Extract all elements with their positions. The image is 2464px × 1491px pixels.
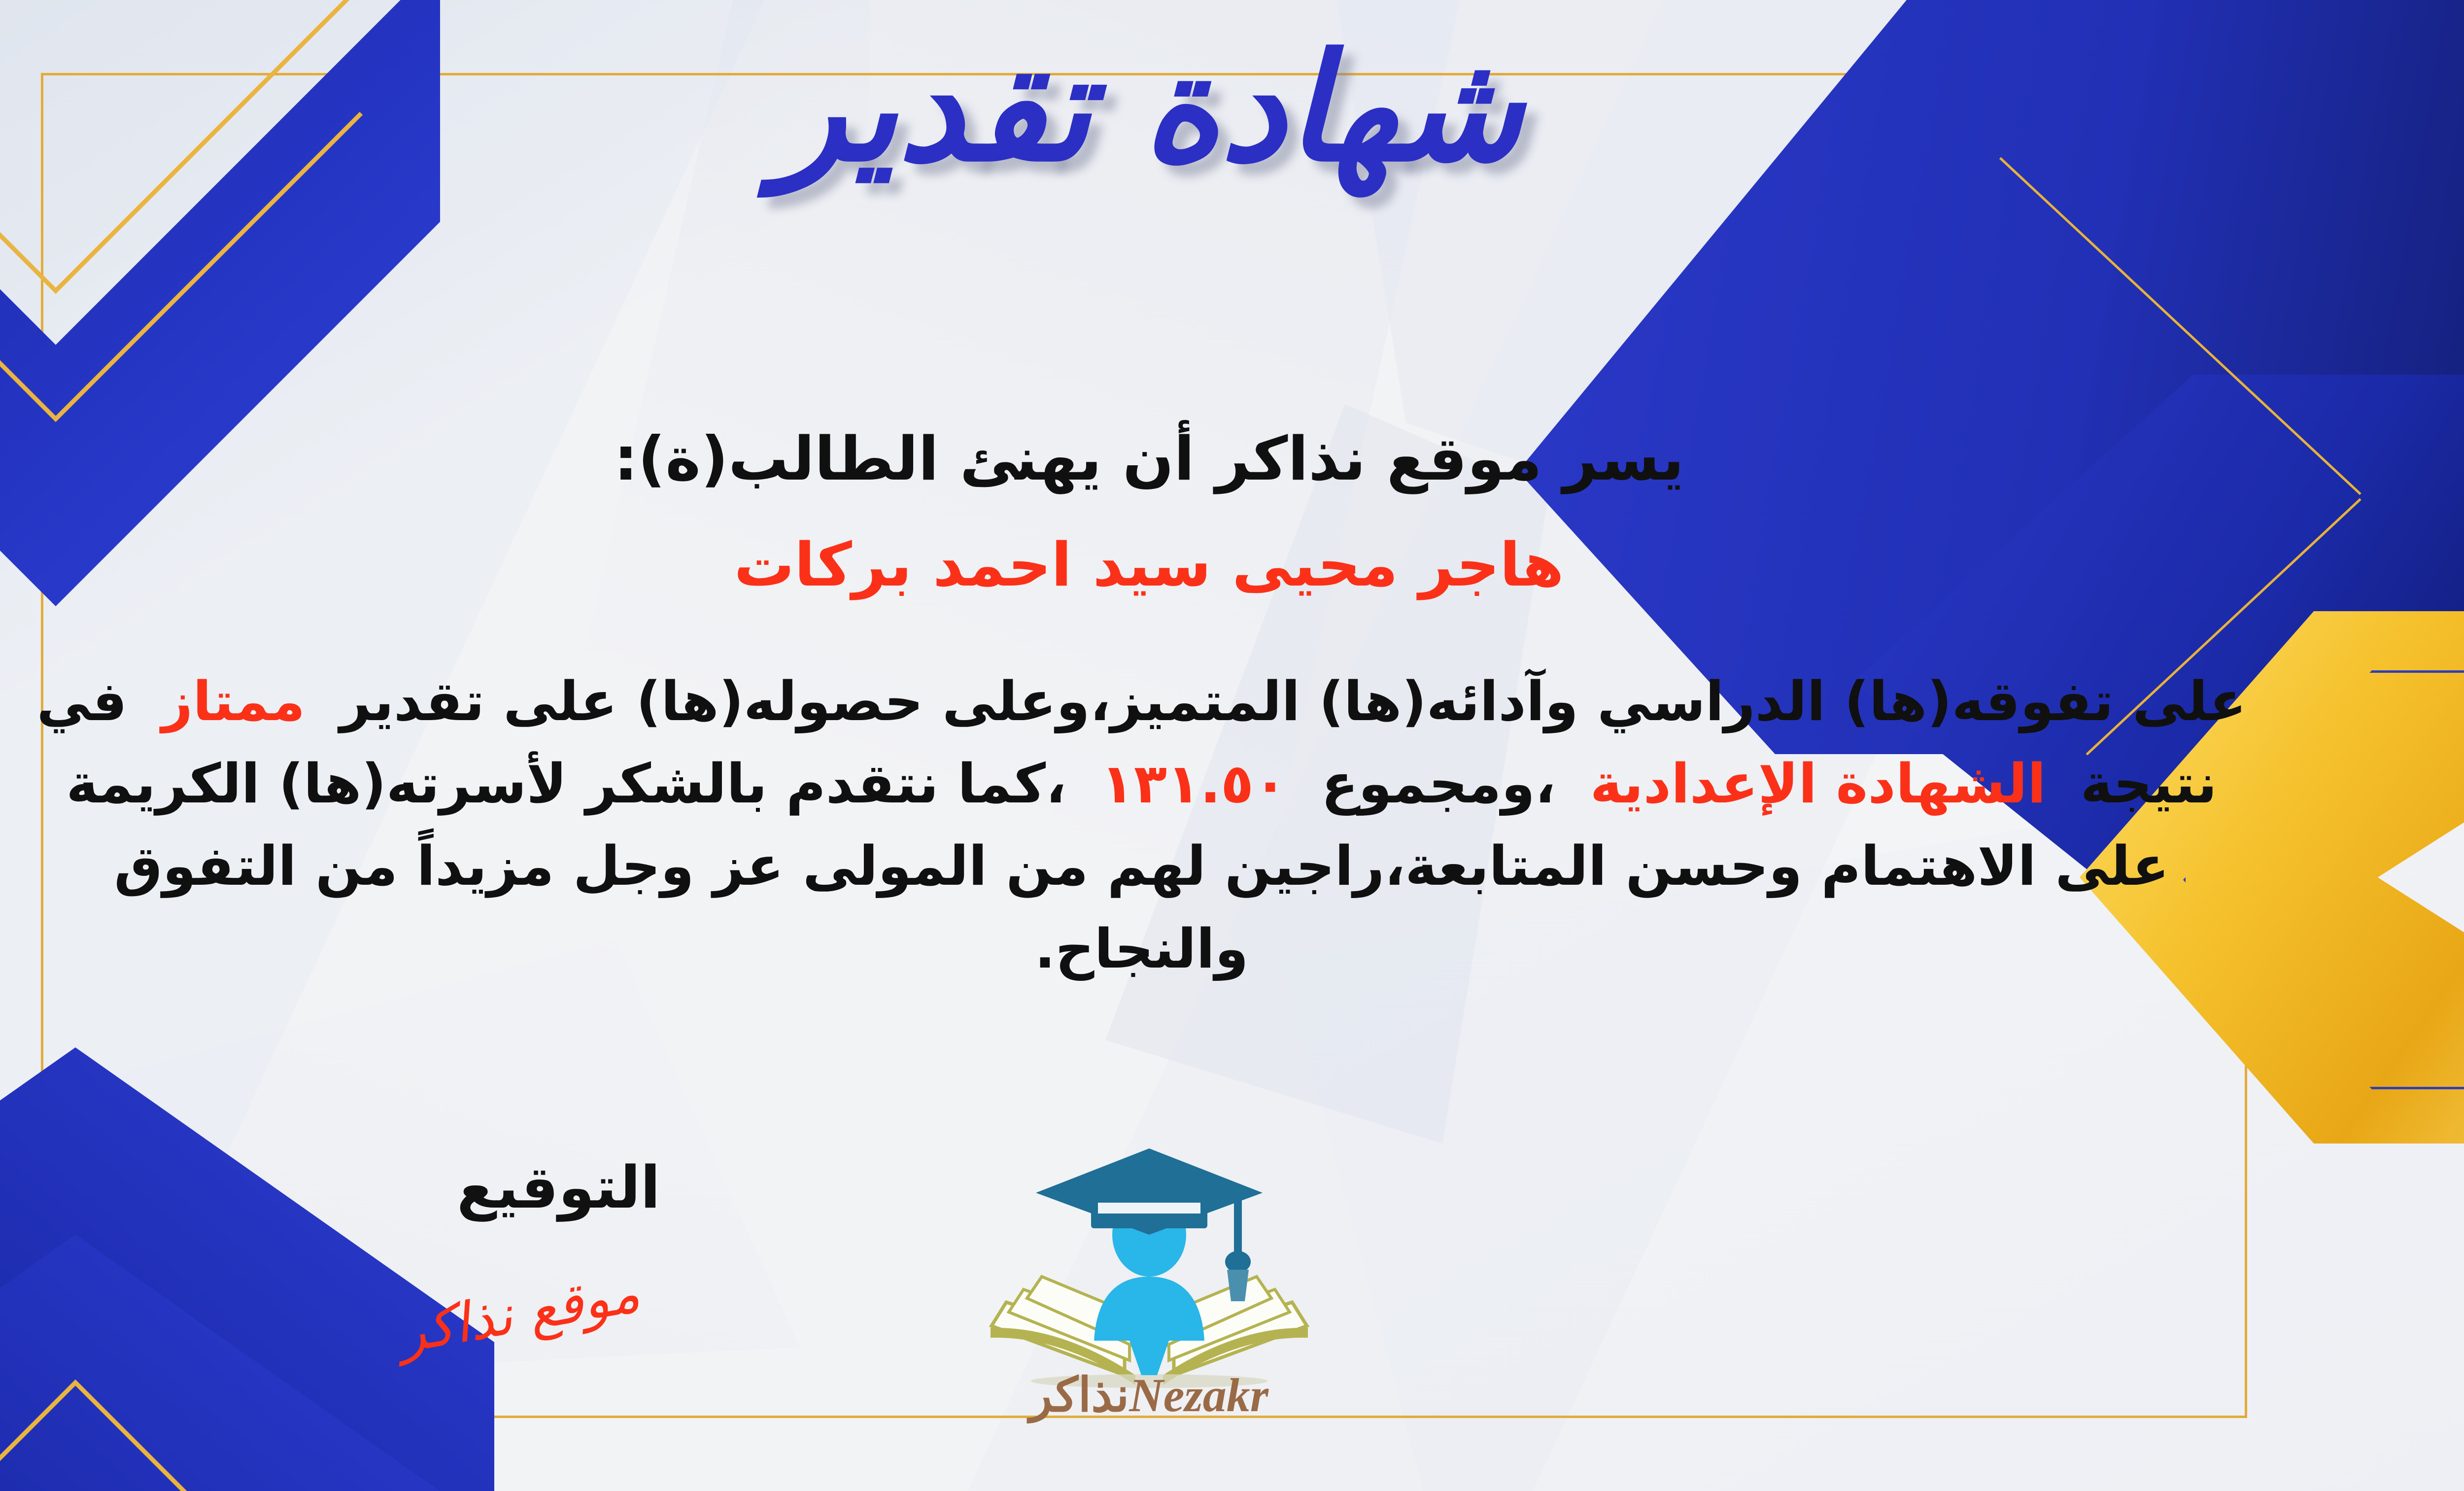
signature-handwriting: موقع نذاكر — [394, 1261, 645, 1365]
signature-label: التوقيع — [457, 1153, 660, 1221]
exam-name: الشهادة الإعدادية — [1590, 752, 2046, 815]
total-score: ١٣١.٥٠ — [1101, 752, 1287, 815]
certificate-canvas: شهادة تقدير يسر موقع نذاكر أن يهنئ الطال… — [0, 0, 2464, 1491]
logo-arabic-text: نذاكر — [1029, 1367, 1129, 1422]
logo-wordmark: Nezakrنذاكر — [962, 1367, 1336, 1422]
nezakr-logo: Nezakrنذاكر — [962, 1129, 1336, 1424]
graduate-body — [1094, 1277, 1204, 1341]
certificate-content: شهادة تقدير يسر موقع نذاكر أن يهنئ الطال… — [0, 0, 2464, 1491]
student-name: هاجر محيى سيد احمد بركات — [0, 530, 2464, 600]
body-segment-1: على تفوقه(ها) الدراسي وآدائه(ها) المتميز… — [340, 670, 2246, 733]
body-segment-3: ،ومجموع — [1321, 752, 1555, 815]
certificate-body-paragraph: على تفوقه(ها) الدراسي وآدائه(ها) المتميز… — [31, 660, 2252, 990]
logo-latin-text: Nezakr — [1129, 1369, 1268, 1422]
congratulation-intro-text: يسر موقع نذاكر أن يهنئ الطالب(ة): — [0, 424, 2464, 494]
certificate-title: شهادة تقدير — [0, 35, 2464, 182]
grade-value: ممتاز — [162, 670, 305, 733]
